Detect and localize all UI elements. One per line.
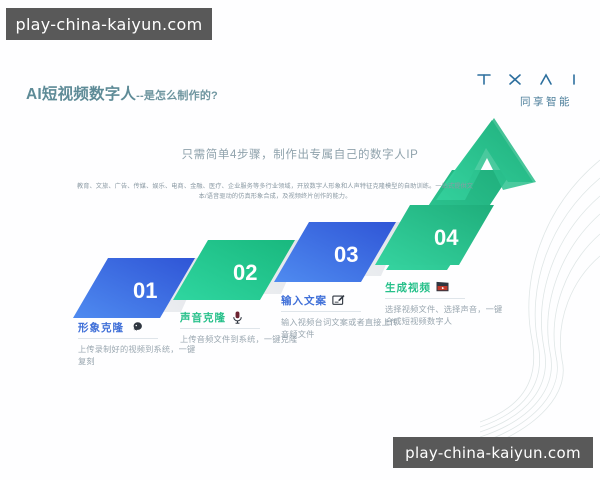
step-4-label: 生成视频 [385, 280, 431, 295]
letter-a-icon [539, 72, 553, 86]
svg-text:03: 03 [334, 242, 358, 267]
step-item-1: 形象克隆 上传录制好的视频到系统，一键复刻 [78, 320, 196, 368]
step-1-label-row: 形象克隆 [78, 320, 196, 335]
intro-paragraph: 教育、文旅、广告、传媒、娱乐、电商、金融、医疗、企业服务等多行业领域，开放数字人… [75, 182, 475, 202]
subtitle: 只需简单4步骤，制作出专属自己的数字人IP [0, 146, 600, 162]
svg-text:04: 04 [434, 225, 459, 250]
step-3-description: 输入视频台词文案或者直接上传音频文件 [281, 317, 399, 341]
step-1-description: 上传录制好的视频到系统，一键复刻 [78, 344, 196, 368]
clapperboard-icon [435, 280, 450, 295]
step-4-label-row: 生成视频 [385, 280, 503, 295]
page-title: AI短视频数字人--是怎么制作的? [26, 82, 218, 104]
microphone-icon [230, 310, 245, 325]
watermark-top: play-china-kaiyun.com [6, 8, 212, 40]
svg-text:01: 01 [133, 278, 157, 303]
brand-letters [430, 70, 580, 88]
step-4-description: 选择视频文件、选择声音，一键合成短视频数字人 [385, 304, 503, 328]
svg-text:02: 02 [233, 260, 257, 285]
step-item-4: 生成视频 选择视频文件、选择声音，一键合成短视频数字人 [385, 280, 503, 328]
step-3-label-row: 输入文案 [281, 293, 399, 308]
page-title-sub: --是怎么制作的? [136, 90, 218, 102]
slide-canvas: 01 02 03 04 AI短视频数字人--是怎么制作的? [0, 0, 600, 480]
letter-t-icon [477, 72, 491, 86]
step-3-label: 输入文案 [281, 293, 327, 308]
step-1-label: 形象克隆 [78, 320, 124, 335]
letter-x-icon [508, 72, 522, 86]
step-4-divider [385, 298, 465, 299]
letter-i-icon [570, 72, 578, 86]
step-3-divider [281, 311, 361, 312]
page-title-main: AI短视频数字人 [26, 86, 136, 103]
step-item-3: 输入文案 输入视频台词文案或者直接上传音频文件 [281, 293, 399, 341]
watermark-bottom: play-china-kaiyun.com [393, 437, 593, 468]
step-2-label: 声音克隆 [180, 310, 226, 325]
step-1-divider [78, 338, 158, 339]
brand-logo: 同享智能 [430, 70, 580, 109]
brand-name-cn: 同享智能 [430, 94, 580, 109]
edit-document-icon [331, 293, 346, 308]
person-head-icon [128, 320, 143, 335]
step-2-divider [180, 328, 260, 329]
